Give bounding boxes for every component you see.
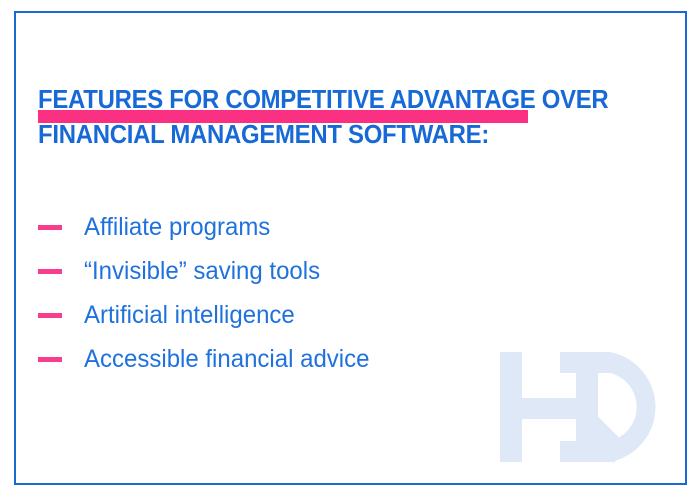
list-item-label: “Invisible” saving tools <box>84 256 320 286</box>
page-title-line-1: FEATURES FOR COMPETITIVE ADVANTAGE OVER <box>38 82 590 117</box>
dash-bullet-icon <box>38 269 62 274</box>
list-item-label: Affiliate programs <box>84 212 270 242</box>
dash-bullet-icon <box>38 225 62 230</box>
list-item: “Invisible” saving tools <box>38 249 638 293</box>
page-title-line-2: FINANCIAL MANAGEMENT SOFTWARE: <box>38 117 590 152</box>
slide-content: FEATURES FOR COMPETITIVE ADVANTAGE OVER … <box>0 0 700 500</box>
feature-list: Affiliate programs “Invisible” saving to… <box>38 205 638 381</box>
page-title: FEATURES FOR COMPETITIVE ADVANTAGE OVER … <box>38 82 638 152</box>
page-title-line-2-text: FINANCIAL MANAGEMENT SOFTWARE: <box>38 119 489 149</box>
dash-bullet-icon <box>38 357 62 362</box>
dash-bullet-icon <box>38 313 62 318</box>
list-item: Accessible financial advice <box>38 337 638 381</box>
list-item-label: Accessible financial advice <box>84 344 369 374</box>
slide-canvas: FEATURES FOR COMPETITIVE ADVANTAGE OVER … <box>0 0 700 500</box>
page-title-line-1-text: FEATURES FOR COMPETITIVE ADVANTAGE OVER <box>38 84 608 114</box>
list-item-label: Artificial intelligence <box>84 300 295 330</box>
list-item: Artificial intelligence <box>38 293 638 337</box>
list-item: Affiliate programs <box>38 205 638 249</box>
